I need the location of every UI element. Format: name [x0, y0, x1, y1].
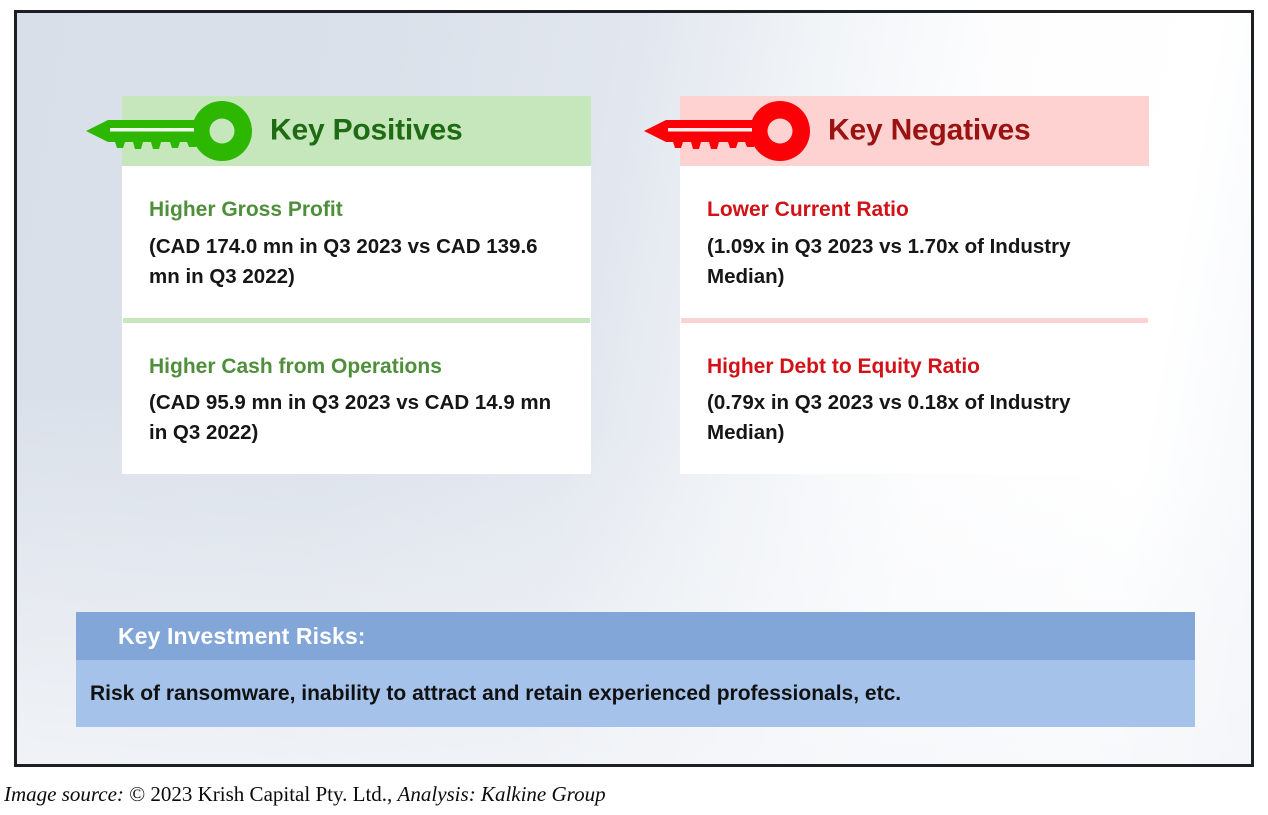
- risks-header: Key Investment Risks:: [76, 612, 1195, 660]
- caption-analysis: Analysis: Kalkine Group: [398, 782, 606, 806]
- negative-item-1-detail: (1.09x in Q3 2023 vs 1.70x of Industry M…: [707, 232, 1122, 292]
- panel-header-positives: Key Positives: [122, 96, 591, 166]
- positive-item-2-heading: Higher Cash from Operations: [149, 355, 564, 380]
- panel-key-positives: Key Positives Higher Gross Profit (CAD 1…: [122, 96, 591, 474]
- panel-key-negatives: Key Negatives Lower Current Ratio (1.09x…: [680, 96, 1149, 474]
- negative-item-1: Lower Current Ratio (1.09x in Q3 2023 vs…: [680, 166, 1149, 318]
- positive-item-1-detail: (CAD 174.0 mn in Q3 2023 vs CAD 139.6 mn…: [149, 232, 564, 292]
- slide-frame: Key Positives Higher Gross Profit (CAD 1…: [14, 10, 1254, 767]
- panel-body-positives: Higher Gross Profit (CAD 174.0 mn in Q3 …: [122, 166, 591, 474]
- key-icon: [84, 98, 262, 164]
- negative-item-1-heading: Lower Current Ratio: [707, 198, 1122, 223]
- panels-container: Key Positives Higher Gross Profit (CAD 1…: [17, 13, 1251, 764]
- positive-item-1: Higher Gross Profit (CAD 174.0 mn in Q3 …: [122, 166, 591, 318]
- negative-item-2-heading: Higher Debt to Equity Ratio: [707, 355, 1122, 380]
- positive-item-2-detail: (CAD 95.9 mn in Q3 2023 vs CAD 14.9 mn i…: [149, 388, 564, 448]
- risks-body-text: Risk of ransomware, inability to attract…: [90, 682, 901, 706]
- panel-body-negatives: Lower Current Ratio (1.09x in Q3 2023 vs…: [680, 166, 1149, 474]
- key-investment-risks: Key Investment Risks: Risk of ransomware…: [76, 612, 1195, 727]
- image-source-caption: Image source: © 2023 Krish Capital Pty. …: [4, 782, 606, 807]
- caption-source: © 2023 Krish Capital Pty. Ltd.,: [129, 782, 392, 806]
- panel-title-negatives: Key Negatives: [828, 113, 1031, 147]
- key-icon: [642, 98, 820, 164]
- caption-label: Image source:: [4, 782, 124, 806]
- risks-body: Risk of ransomware, inability to attract…: [76, 660, 1195, 727]
- negative-item-2-detail: (0.79x in Q3 2023 vs 0.18x of Industry M…: [707, 388, 1122, 448]
- risks-header-label: Key Investment Risks:: [118, 623, 366, 650]
- positive-item-2: Higher Cash from Operations (CAD 95.9 mn…: [122, 323, 591, 475]
- panel-header-negatives: Key Negatives: [680, 96, 1149, 166]
- positive-item-1-heading: Higher Gross Profit: [149, 198, 564, 223]
- panel-title-positives: Key Positives: [270, 113, 463, 147]
- negative-item-2: Higher Debt to Equity Ratio (0.79x in Q3…: [680, 323, 1149, 475]
